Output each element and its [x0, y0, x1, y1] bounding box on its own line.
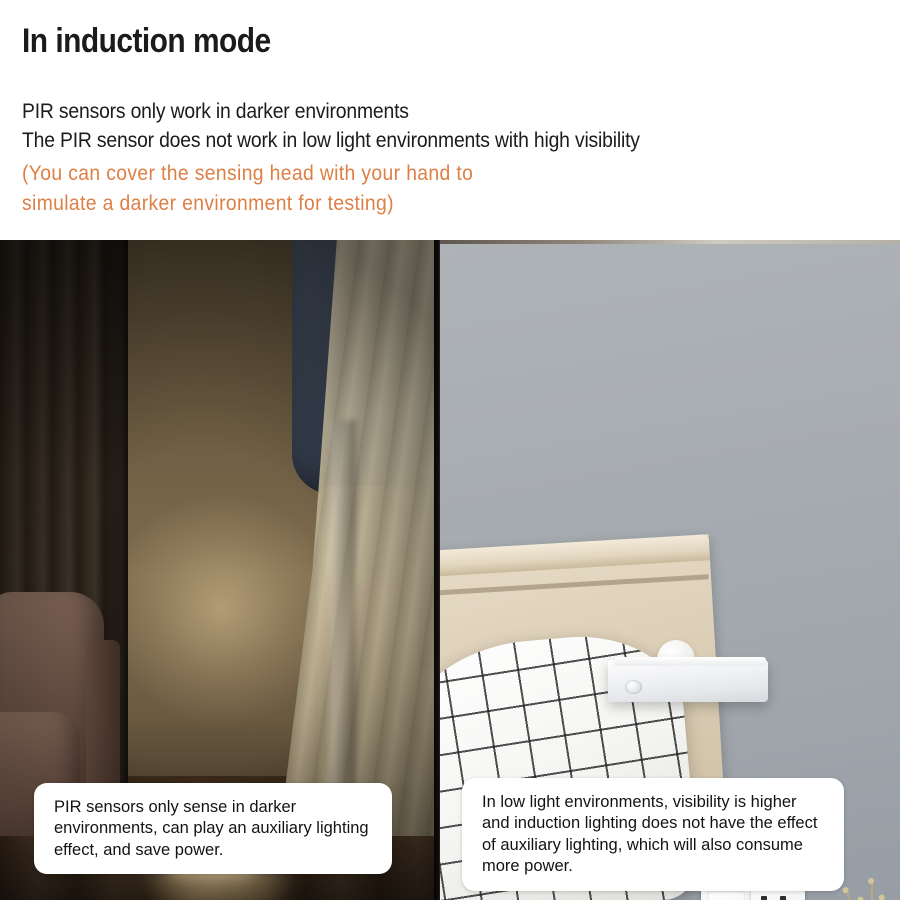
caption-bubble-right: In low light environments, visibility is…: [462, 778, 844, 891]
header-text-block: In induction mode PIR sensors only work …: [0, 0, 900, 240]
led-bar-top-edge: [614, 657, 766, 666]
caption-left-text: PIR sensors only sense in darker environ…: [54, 797, 374, 861]
caption-bubble-left: PIR sensors only sense in darker environ…: [34, 783, 392, 874]
back-wall: [118, 240, 318, 800]
switch-rocker[interactable]: [707, 891, 745, 900]
subtitle-line-2: The PIR sensor does not work in low ligh…: [22, 128, 640, 153]
caption-right-text: In low light environments, visibility is…: [482, 792, 826, 878]
ceiling-trim: [439, 240, 900, 244]
socket-hole: [761, 896, 767, 900]
flower-stem: [871, 882, 873, 900]
panel-divider: [434, 240, 440, 900]
subtitle-line-1: PIR sensors only work in darker environm…: [22, 99, 409, 124]
pir-sensor-icon: [625, 680, 642, 694]
page-title: In induction mode: [22, 22, 271, 61]
note-line-2: simulate a darker environment for testin…: [22, 192, 394, 216]
flower-stem: [871, 896, 900, 900]
socket-hole: [780, 896, 786, 900]
note-line-1: (You can cover the sensing head with you…: [22, 162, 473, 186]
